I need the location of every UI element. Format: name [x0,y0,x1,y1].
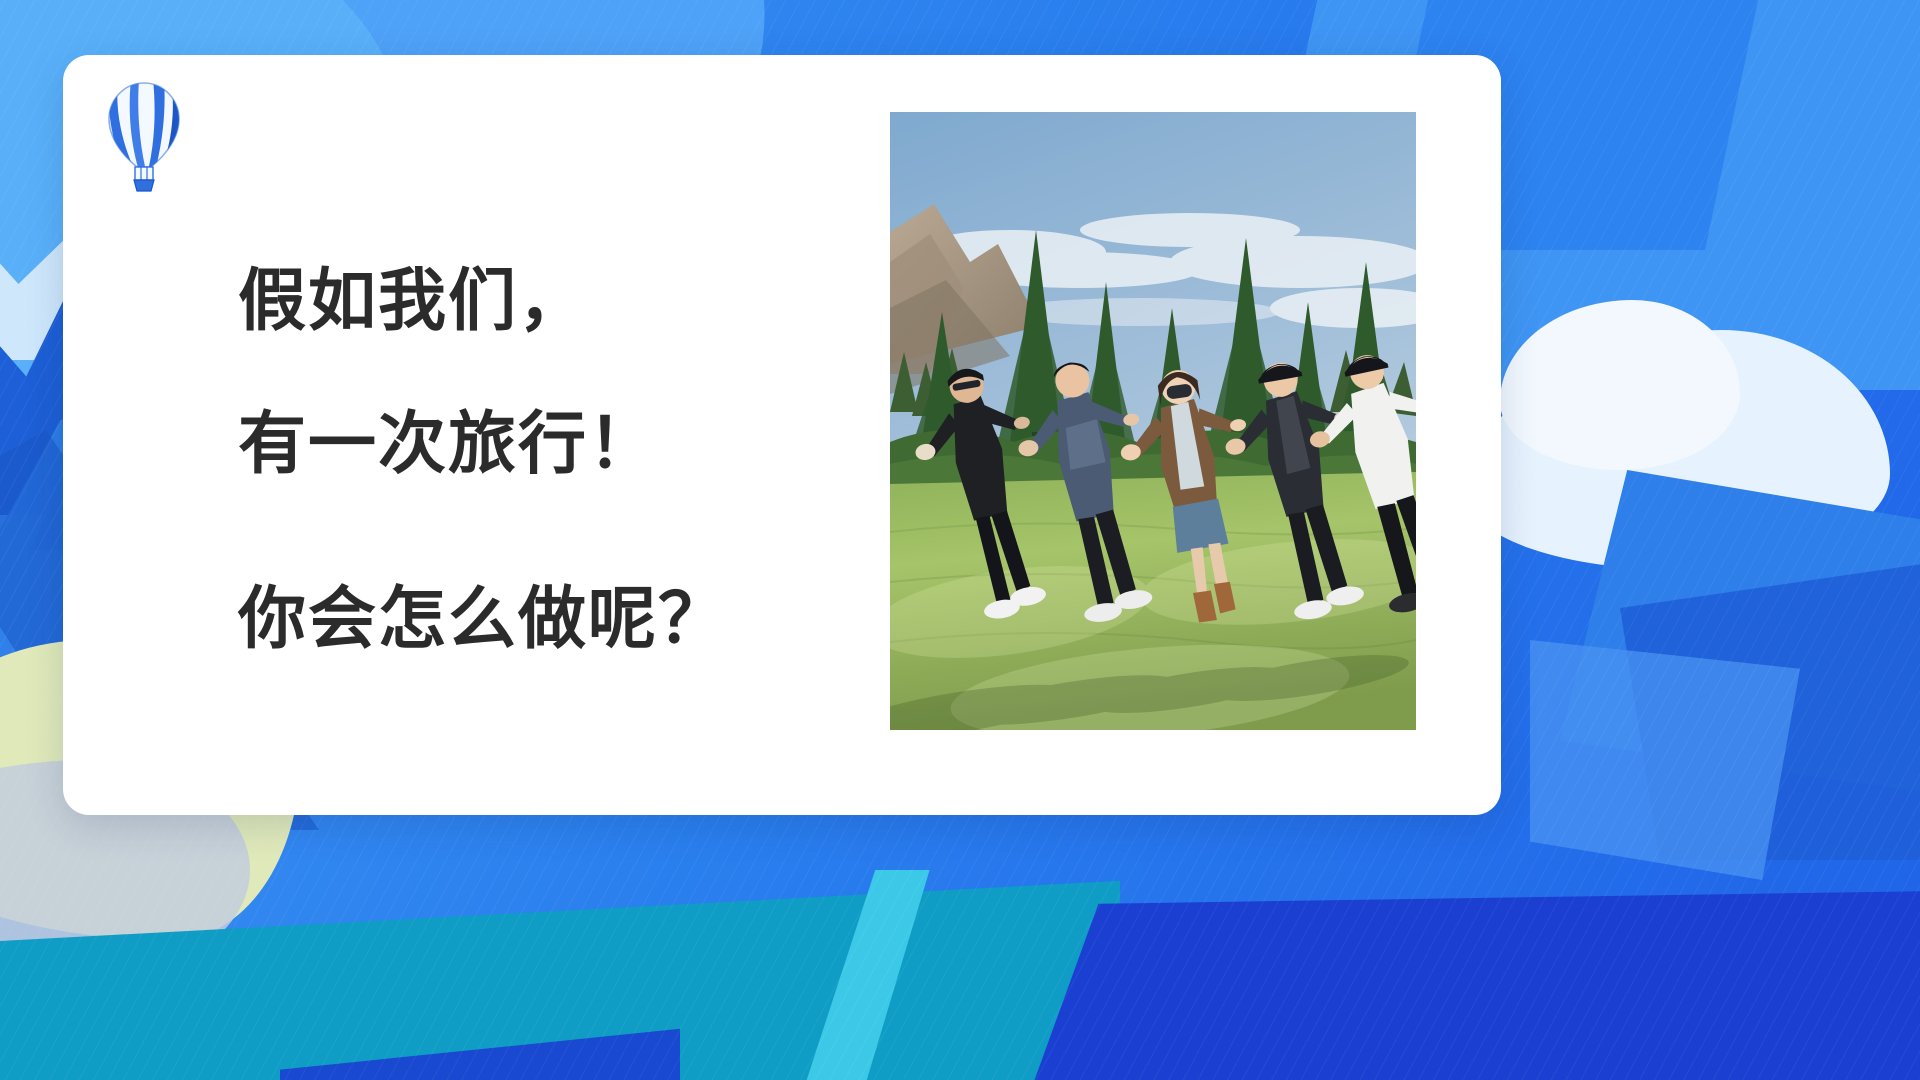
background-facet-right-c [1530,640,1800,880]
headline-block: 假如我们， 有一次旅行！ 你会怎么做呢？ [238,245,858,662]
group-travel-photo [890,112,1416,730]
hot-air-balloon-icon [101,79,187,195]
presentation-slide: 假如我们， 有一次旅行！ 你会怎么做呢？ [0,0,1920,1080]
headline-line-2: 有一次旅行！ [238,388,858,487]
content-card: 假如我们， 有一次旅行！ 你会怎么做呢？ [63,55,1501,815]
headline-line-3: 你会怎么做呢？ [238,563,858,662]
background-navy-band-bottom [1020,890,1920,1080]
headline-line-1: 假如我们， [238,245,858,344]
